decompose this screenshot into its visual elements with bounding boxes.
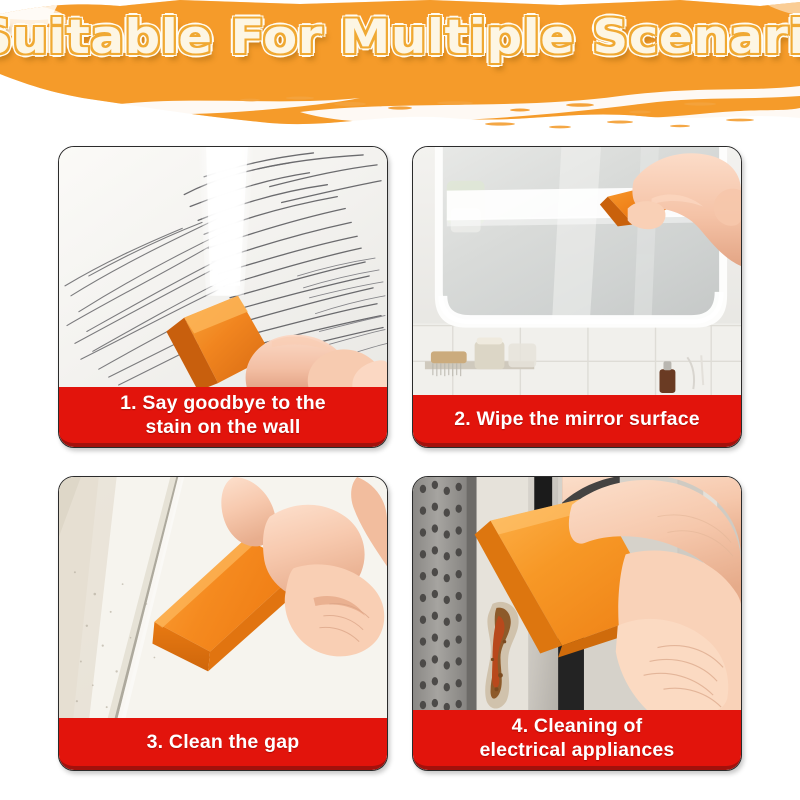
- scenario-photo-gap: [59, 477, 387, 722]
- caption-line: 3. Clean the gap: [147, 730, 300, 754]
- scenario-caption-3: 3. Clean the gap: [59, 718, 387, 770]
- page-title: Suitable For Multiple Scenarios: [0, 12, 800, 64]
- caption-line: 1. Say goodbye to the: [120, 391, 326, 415]
- scenario-caption-2: 2. Wipe the mirror surface: [413, 395, 741, 447]
- vent-grille: [413, 477, 477, 714]
- header-banner: Suitable For Multiple Scenarios: [0, 0, 800, 140]
- scenario-photo-wall-stain: [59, 147, 387, 391]
- product-infographic: Suitable For Multiple Scenarios: [0, 0, 800, 800]
- caption-line: 4. Cleaning of: [480, 714, 675, 738]
- scenario-card-1[interactable]: 1. Say goodbye to the stain on the wall: [58, 146, 388, 448]
- scenario-card-2[interactable]: 2. Wipe the mirror surface: [412, 146, 742, 448]
- scenario-card-3[interactable]: 3. Clean the gap: [58, 476, 388, 771]
- caption-line: stain on the wall: [120, 415, 326, 439]
- scenario-photo-appliance: [413, 477, 741, 714]
- scenario-caption-1: 1. Say goodbye to the stain on the wall: [59, 387, 387, 447]
- scenario-grid: 1. Say goodbye to the stain on the wall: [58, 146, 742, 771]
- caption-line: electrical appliances: [480, 738, 675, 762]
- scenario-card-4[interactable]: 4. Cleaning of electrical appliances: [412, 476, 742, 771]
- tile-wall: [413, 324, 741, 399]
- scenario-photo-mirror: [413, 147, 741, 399]
- caption-line: 2. Wipe the mirror surface: [454, 407, 700, 431]
- scenario-caption-4: 4. Cleaning of electrical appliances: [413, 710, 741, 770]
